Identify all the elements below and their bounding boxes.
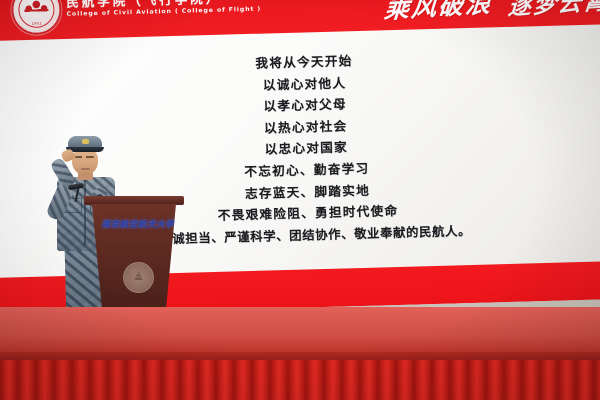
face bbox=[72, 148, 98, 175]
slogan-calligraphy: 乘风破浪 逐梦云霄 bbox=[384, 0, 600, 24]
mouth bbox=[81, 168, 90, 170]
seal-year: 1952 bbox=[14, 21, 60, 26]
slogan-second: 逐梦云霄 bbox=[507, 0, 600, 22]
school-seal-icon: 1952 bbox=[11, 0, 62, 35]
podium-university-name: 南京航空航天大学 bbox=[101, 218, 175, 230]
cap-badge-icon bbox=[82, 139, 89, 144]
stage-skirt bbox=[0, 360, 600, 400]
podium-top bbox=[84, 196, 184, 205]
slogan-first: 乘风破浪 bbox=[383, 0, 494, 26]
university-emblem-icon bbox=[123, 262, 154, 293]
photo-scene: 1952 民航学院（飞行学院） College of Civil Aviatio… bbox=[0, 0, 600, 400]
eyes bbox=[75, 156, 94, 158]
seal-emblem-mark bbox=[24, 0, 48, 16]
jacket-placket bbox=[84, 180, 86, 246]
podium-front-panel: 南京航空航天大学 bbox=[92, 204, 176, 310]
screen-header-text: 民航学院（飞行学院） College of Civil Aviation ( C… bbox=[66, 0, 261, 19]
